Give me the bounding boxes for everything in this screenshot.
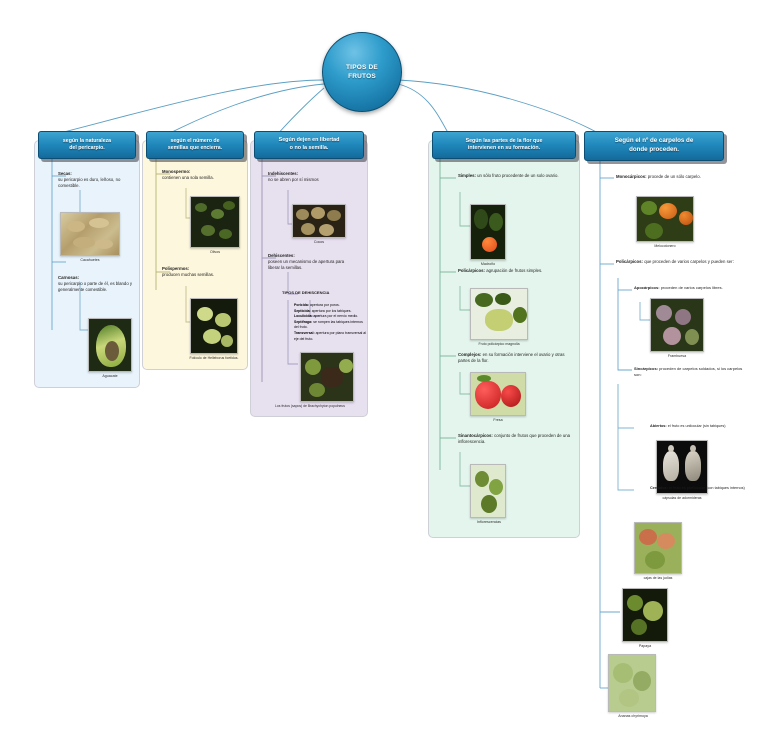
caption-cocos: Cocos: [292, 240, 346, 244]
caption-olivos: Olivos: [190, 250, 240, 254]
header-pericarpio[interactable]: según la naturaleza del pericarpio.: [38, 131, 136, 159]
list-dehiscencia-types: Poricida: apertura por poros. Septicida:…: [294, 303, 368, 342]
root-label-line1: TIPOS DE: [346, 64, 378, 71]
mindmap-canvas: TIPOS DE FRUTOS según la naturaleza del …: [0, 0, 768, 756]
hdr2a: según el número de: [170, 138, 219, 144]
caption-judias: cajas de las judías: [622, 576, 694, 580]
header-carpelos-label: Según el nº de carpelos de donde procede…: [615, 137, 694, 154]
item-dehiscentes: Dehiscentes: poseen un mecanismo de aper…: [268, 253, 354, 272]
header-semillas[interactable]: según el número de semillas que encierra…: [146, 131, 244, 159]
item-sinantocarpicos: Sinantocárpicos: conjunto de frutos que …: [458, 433, 576, 445]
item-secas: Secas: su pericarpio es duro, leñoso, no…: [58, 171, 132, 190]
hdr5a: Según el nº de carpelos de: [615, 137, 694, 144]
header-partesflor-label: Según las partes de la flor que intervie…: [466, 138, 543, 153]
desc-policarpicos-carpelos: que proceden de varios carpelos y pueden…: [644, 259, 734, 264]
header-libertad[interactable]: Según dejen en libertad o no la semilla.: [254, 131, 364, 159]
item-polispermos: Polispermos: producen muchas semillas.: [162, 266, 242, 278]
connector-lines: [0, 0, 768, 756]
root-label-line2: FRUTOS: [348, 73, 376, 80]
photo-brachychiton: [300, 352, 354, 402]
item-apocarpicos: Apocárpicos: proceden de varios carpelos…: [634, 285, 754, 291]
photo-olivos: [190, 196, 240, 248]
caption-frambuesa: Frambuesa: [648, 354, 706, 358]
desc-apocarpicos: proceden de varios carpelos libres.: [661, 285, 723, 290]
caption-aguacate: Aguacate: [88, 374, 132, 378]
term-apocarpicos: Apocárpicos:: [634, 285, 660, 290]
desc-poricida: apertura por poros.: [310, 303, 340, 307]
header-pericarpio-label: según la naturaleza del pericarpio.: [63, 138, 111, 153]
item-indehiscentes: Indehiscentes: no se abren por sí mismos: [268, 171, 358, 183]
item-monospermo: Monospermo: contienen una sola semilla.: [162, 169, 242, 181]
photo-frambuesa: [650, 298, 704, 352]
term-policarpicos: Policárpicos:: [458, 268, 485, 273]
caption-magnolia: Fruto policárpico magnolia: [456, 342, 542, 346]
desc-cerrados: el fruto es plurilocular (con tabiques i…: [669, 486, 745, 490]
caption-fresa: Fresa: [470, 418, 526, 422]
desc-monospermo: contienen una sola semilla.: [162, 175, 214, 180]
photo-aguacate: [88, 318, 132, 372]
hdr4a: Según las partes de la flor que: [466, 138, 543, 144]
root-node-label: TIPOS DE FRUTOS: [346, 63, 378, 82]
hdr2b: semillas que encierra.: [168, 145, 222, 151]
desc-simples: un sólo fruto procedente de un solo ovar…: [477, 173, 558, 178]
hdr3a: Según dejen en libertad: [279, 137, 340, 143]
hdr3b: o no la semilla.: [290, 145, 329, 151]
term-transversal: Transversal:: [294, 331, 315, 335]
photo-foliculo: [190, 298, 238, 354]
photo-madrono: [470, 204, 506, 260]
desc-policarpicos: agrupación de frutos simples.: [486, 268, 542, 273]
hdr1b: del pericarpio.: [69, 145, 104, 151]
term-dehiscentes: Dehiscentes:: [268, 253, 295, 258]
item-monocarpicos: Monocárpicos: procede de un sólo carpelo…: [616, 174, 748, 180]
caption-melocotonero: Melocotonero: [634, 244, 696, 248]
desc-dehiscentes: poseen un mecanismo de apertura para lib…: [268, 259, 344, 270]
photo-judias: [634, 522, 682, 574]
term-sincarpicos: Sincárpicos:: [634, 366, 658, 371]
term-monocarpicos: Monocárpicos:: [616, 174, 647, 179]
item-sincarpicos: Sincárpicos: proceden de carpelos soldad…: [634, 366, 750, 378]
desc-abiertos: el fruto es unilocular (sin tabiques): [668, 424, 726, 428]
term-simples: Simples:: [458, 173, 476, 178]
term-policarpicos-carpelos: Policárpicos:: [616, 259, 643, 264]
term-complejos: Complejos:: [458, 352, 481, 357]
desc-carnosas: su pericarpio o parte de él, es blando y…: [58, 281, 132, 292]
hdr1a: según la naturaleza: [63, 138, 111, 144]
list-item: Transversal: apertura por plano transver…: [294, 331, 368, 342]
subtitle-dehiscencia: TIPOS DE DEHISCENCIA: [282, 290, 329, 296]
caption-foliculo: Folículo de Helleborus foetidus.: [174, 356, 254, 360]
term-abiertos: Abiertos:: [650, 424, 667, 428]
term-loculicida: Loculicida:: [294, 314, 312, 318]
caption-adormideras: cápsulas de adormideras: [640, 496, 724, 500]
photo-magnolia: [470, 288, 528, 340]
list-item: Septífraga: se rompen las tabiques inter…: [294, 320, 368, 331]
caption-cacahuetes: Cacahuetes: [60, 258, 120, 262]
term-polispermos: Polispermos:: [162, 266, 189, 271]
term-septifraga: Septífraga:: [294, 320, 312, 324]
term-septicida: Septicida:: [294, 309, 311, 313]
caption-papaya: Papaya: [616, 644, 674, 648]
photo-fresa: [470, 372, 526, 416]
photo-papaya: [622, 588, 668, 642]
caption-brachychiton: Los frutos (sapos) de Brachychyton popul…: [256, 404, 364, 408]
item-policarpicos-carpelos: Policárpicos: que proceden de varios car…: [616, 259, 752, 265]
header-libertad-label: Según dejen en libertad o no la semilla.: [279, 137, 340, 152]
term-sinantocarpicos: Sinantocárpicos:: [458, 433, 493, 438]
item-carnosas: Carnosas: su pericarpio o parte de él, e…: [58, 275, 134, 294]
photo-anona: [608, 654, 656, 712]
term-carnosas: Carnosas:: [58, 275, 79, 280]
desc-septicida: apertura por los tabiques.: [312, 309, 352, 313]
term-secas: Secas:: [58, 171, 72, 176]
term-poricida: Poricida:: [294, 303, 309, 307]
desc-polispermos: producen muchas semillas.: [162, 272, 214, 277]
term-cerrados: Cerrados:: [650, 486, 668, 490]
header-semillas-label: según el número de semillas que encierra…: [168, 138, 222, 153]
desc-secas: su pericarpio es duro, leñoso, no comest…: [58, 177, 120, 188]
subtitle-dehiscencia-label: TIPOS DE DEHISCENCIA: [282, 290, 329, 295]
header-partesflor[interactable]: Según las partes de la flor que intervie…: [432, 131, 576, 159]
term-indehiscentes: Indehiscentes:: [268, 171, 298, 176]
item-policarpicos: Policárpicos: agrupación de frutos simpl…: [458, 268, 574, 274]
caption-inflorescencias: Inflorescencias: [464, 520, 514, 524]
root-node[interactable]: TIPOS DE FRUTOS: [322, 32, 402, 112]
photo-inflorescencias: [470, 464, 506, 518]
photo-cacahuetes: [60, 212, 120, 256]
item-cerrados: Cerrados: el fruto es plurilocular (con …: [650, 486, 754, 492]
desc-monocarpicos: procede de un sólo carpelo.: [648, 174, 701, 179]
hdr4b: intervienen en su formación.: [468, 145, 540, 151]
item-complejos: Complejos: en su formación interviene el…: [458, 352, 576, 364]
photo-melocotonero: [636, 196, 694, 242]
caption-madrono: Madroño: [464, 262, 512, 266]
item-abiertos: Abiertos: el fruto es unilocular (sin ta…: [650, 424, 754, 430]
desc-loculicida: apertura por el nervio medio.: [313, 314, 358, 318]
header-carpelos[interactable]: Según el nº de carpelos de donde procede…: [584, 131, 724, 161]
desc-indehiscentes: no se abren por sí mismos: [268, 177, 319, 182]
item-simples: Simples: un sólo fruto procedente de un …: [458, 173, 568, 179]
term-monospermo: Monospermo:: [162, 169, 190, 174]
caption-anona: Ananas chyrimoya: [600, 714, 666, 718]
hdr5b: donde proceden.: [629, 146, 679, 153]
photo-cocos: [292, 204, 346, 238]
